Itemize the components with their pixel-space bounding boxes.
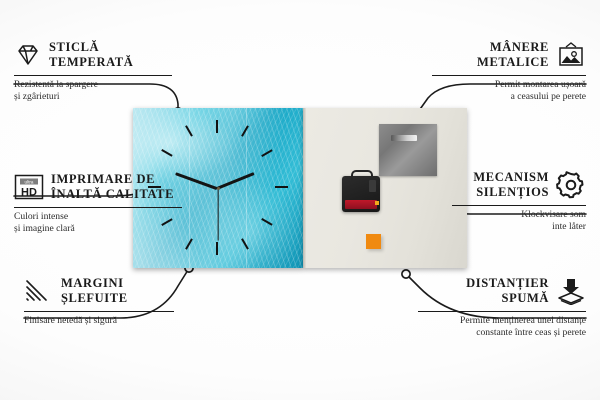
feature-title: DISTANȚIER SPUMĂ [466, 276, 549, 307]
diamond-icon [14, 42, 42, 68]
feature-header: STICLĂ TEMPERATĂ [14, 40, 172, 71]
feature-title: IMPRIMARE DE ÎNALTĂ CALITATE [51, 172, 174, 203]
movement-hook [351, 170, 373, 180]
foam-spacer-icon [556, 277, 586, 305]
panel-edge [303, 108, 306, 268]
svg-text:ultra: ultra [25, 180, 34, 185]
feature-header: MECANISM SILENȚIOS [452, 170, 586, 201]
feature-foam-spacer: DISTANȚIER SPUMĂ Permite menținerea unei… [418, 276, 586, 340]
feature-high-quality-print: ultra HD IMPRIMARE DE ÎNALTĂ CALITATE Cu… [14, 172, 182, 236]
feature-title: MARGINI ȘLEFUITE [61, 276, 128, 307]
clock-back-panel [303, 108, 467, 268]
feature-header: ultra HD IMPRIMARE DE ÎNALTĂ CALITATE [14, 172, 182, 203]
hanger-slot [391, 135, 417, 141]
clock-movement [342, 176, 380, 212]
feature-description: Culori intense și imagine clară [14, 208, 182, 237]
hour-tick [216, 120, 218, 133]
feature-title: MECANISM SILENȚIOS [473, 170, 549, 201]
svg-text:HD: HD [21, 187, 37, 199]
metal-hanger-plate [379, 124, 437, 176]
second-hand [217, 189, 218, 241]
battery [345, 200, 377, 209]
feature-description: Finisare netedă și sigură [24, 312, 174, 328]
ultra-hd-icon: ultra HD [14, 174, 44, 200]
movement-knob [369, 180, 376, 192]
product-photo [133, 108, 467, 268]
feature-description: Rezistentă la spargere și zgârieturi [14, 76, 172, 105]
clock-center-pivot [217, 187, 220, 190]
feature-silent-mechanism: MECANISM SILENȚIOS Klockvisare som inte … [452, 170, 586, 234]
feature-description: Permite menținerea unei distanțe constan… [418, 312, 586, 341]
feature-header: MÂNERE METALICE [432, 40, 586, 71]
connector-ring-spacer [402, 270, 410, 278]
foam-spacer-pad [366, 234, 381, 249]
feature-title: MÂNERE METALICE [477, 40, 549, 71]
feature-polished-edges: MARGINI ȘLEFUITE Finisare netedă și sigu… [24, 276, 174, 327]
feature-tempered-glass: STICLĂ TEMPERATĂ Rezistentă la spargere … [14, 40, 172, 104]
gear-icon [556, 171, 586, 199]
feature-description: Klockvisare som inte låter [452, 206, 586, 235]
feature-header: DISTANȚIER SPUMĂ [418, 276, 586, 307]
hour-tick [275, 186, 288, 188]
hour-tick [216, 242, 218, 255]
feature-header: MARGINI ȘLEFUITE [24, 276, 174, 307]
polished-edges-icon [24, 278, 54, 304]
feature-description: Permit montarea ușoară a ceasului pe per… [432, 76, 586, 105]
infographic-canvas: STICLĂ TEMPERATĂ Rezistentă la spargere … [0, 0, 600, 400]
picture-hanger-icon [556, 42, 586, 68]
feature-metal-hangers: MÂNERE METALICE Permit montarea ușoară a… [432, 40, 586, 104]
feature-title: STICLĂ TEMPERATĂ [49, 40, 133, 71]
